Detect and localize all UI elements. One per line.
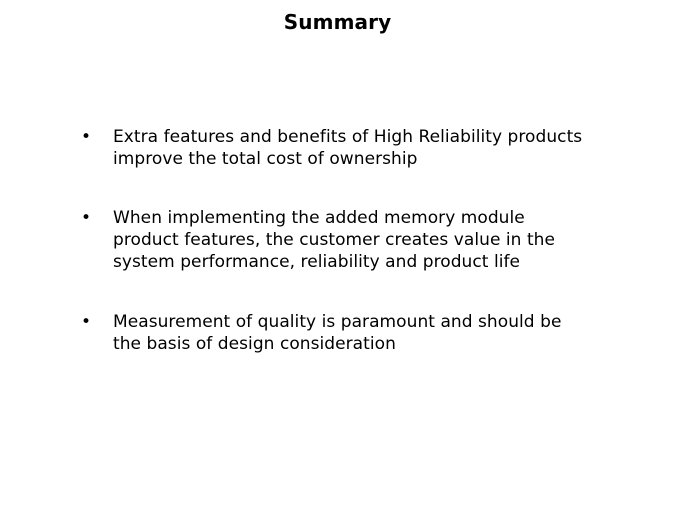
list-item: • Extra features and benefits of High Re…: [78, 126, 618, 170]
bullet-point-icon: •: [81, 311, 95, 333]
bullet-list: • Extra features and benefits of High Re…: [78, 126, 618, 355]
list-item-text: When implementing the added memory modul…: [113, 207, 618, 273]
list-item-text: Measurement of quality is paramount and …: [113, 311, 618, 355]
bullet-point-icon: •: [81, 126, 95, 148]
list-item: • When implementing the added memory mod…: [78, 207, 618, 273]
bullet-point-icon: •: [81, 207, 95, 229]
list-item-text: Extra features and benefits of High Reli…: [113, 126, 618, 170]
list-item: • Measurement of quality is paramount an…: [78, 311, 618, 355]
slide: Summary • Extra features and benefits of…: [0, 0, 675, 506]
page-title: Summary: [0, 9, 675, 35]
